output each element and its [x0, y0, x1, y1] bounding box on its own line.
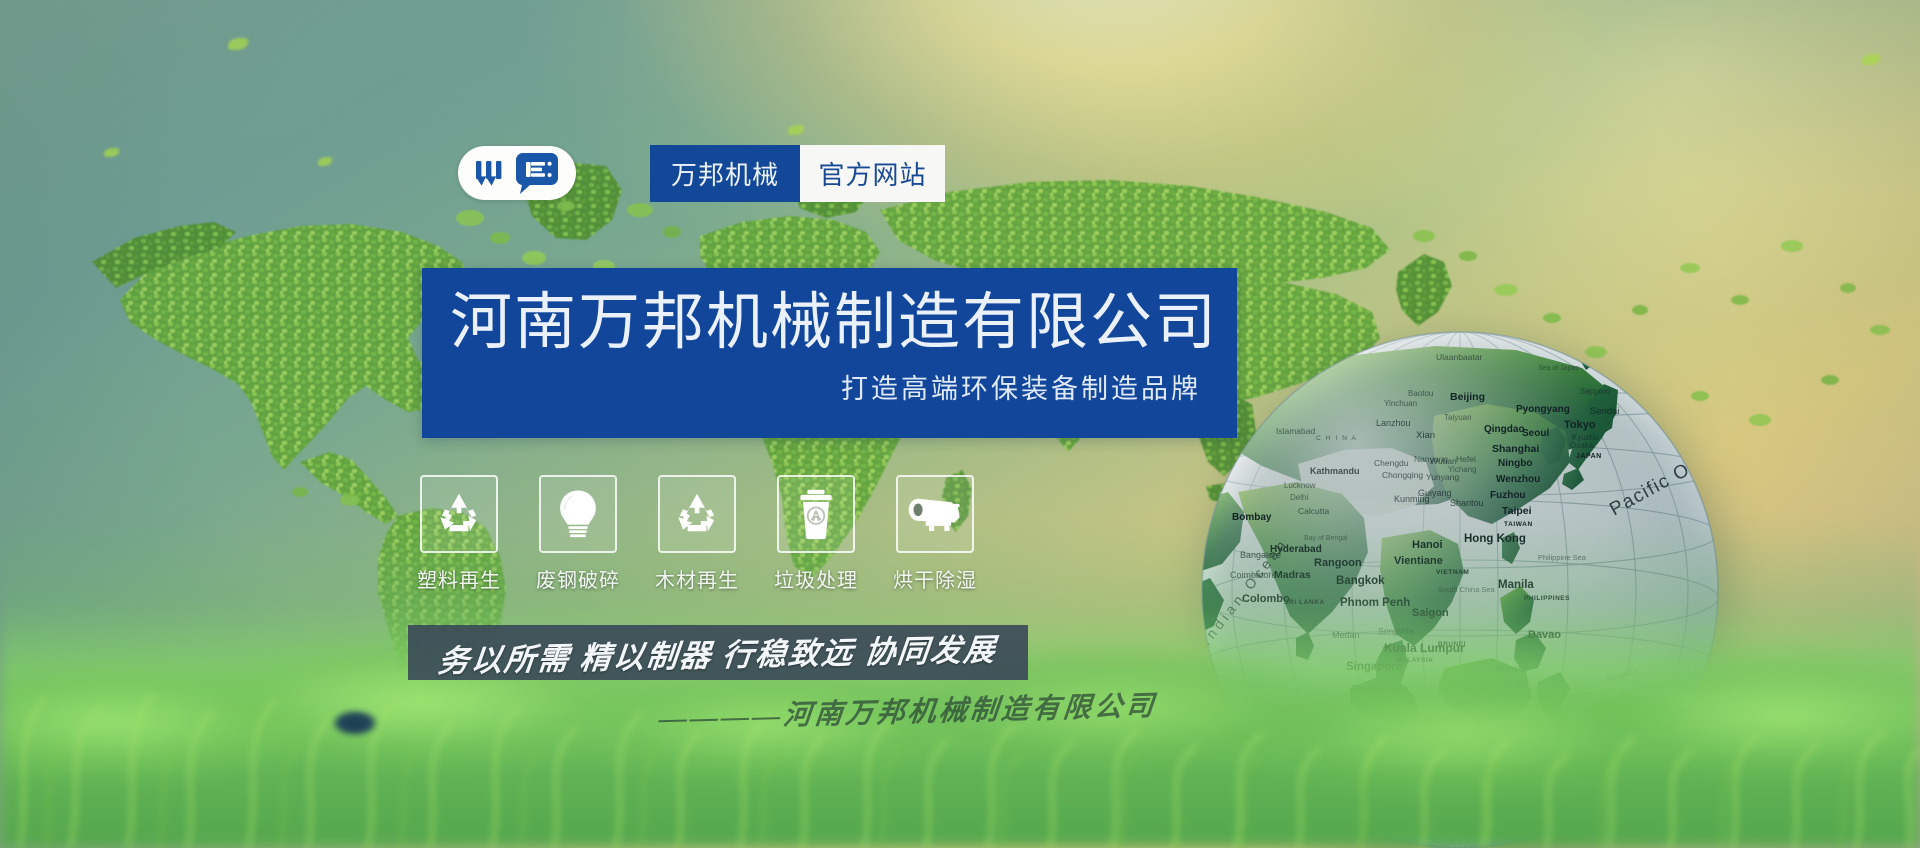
feature-card[interactable]: [539, 475, 617, 553]
feature-item-plastic-recycling[interactable]: 塑料再生: [420, 475, 498, 593]
feature-card[interactable]: [658, 475, 736, 553]
hero-banner: Ulaanbaatar Beijing Baotou Yinchuan Lanz…: [0, 0, 1920, 848]
feature-card[interactable]: [777, 475, 855, 553]
feature-item-drying-dehumidifying[interactable]: 烘干除湿: [896, 475, 974, 593]
feature-label: 木材再生: [655, 564, 739, 593]
feature-label: 烘干除湿: [893, 564, 977, 593]
page-subtitle: 打造高端环保装备制造品牌: [450, 367, 1201, 406]
nav-tag-group[interactable]: 万邦机械 官方网站: [650, 145, 945, 202]
wb-speech-bubble-logo[interactable]: [458, 146, 576, 200]
feature-icon-row[interactable]: 塑料再生 废钢破碎: [420, 475, 974, 593]
insect-speck: [332, 710, 378, 736]
feature-card[interactable]: [420, 475, 498, 553]
feature-item-wood-recycling[interactable]: 木材再生: [658, 475, 736, 593]
rotary-dryer-icon: [907, 495, 963, 533]
slogan-banner: 务以所需 精以制器 行稳致远 协同发展: [408, 625, 1028, 680]
recycle-icon: [434, 489, 484, 539]
nav-tag-brand[interactable]: 万邦机械: [650, 145, 800, 202]
nav-tag-official-site[interactable]: 官方网站: [800, 145, 945, 202]
feature-label: 塑料再生: [417, 564, 501, 593]
feature-label: 垃圾处理: [774, 564, 858, 593]
svg-text:Sea of Okhotsk: Sea of Okhotsk: [1530, 329, 1578, 336]
feature-card[interactable]: [896, 475, 974, 553]
recycle-icon: [672, 489, 722, 539]
trash-bin-recycle-icon: [795, 488, 837, 540]
page-title: 河南万邦机械制造有限公司: [450, 290, 1201, 357]
logo-w-mark: [474, 158, 508, 188]
hero-title-block: 河南万邦机械制造有限公司 打造高端环保装备制造品牌: [422, 268, 1237, 438]
feature-item-scrap-steel-crushing[interactable]: 废钢破碎: [539, 475, 617, 593]
lightbulb-icon: [556, 488, 600, 540]
slogan-text: 务以所需 精以制器 行稳致远 协同发展: [436, 624, 999, 681]
brand-logo[interactable]: [458, 143, 576, 203]
logo-b-speech-bubble: [514, 151, 560, 195]
feature-item-waste-treatment[interactable]: 垃圾处理: [777, 475, 855, 593]
feature-label: 废钢破碎: [536, 564, 620, 593]
